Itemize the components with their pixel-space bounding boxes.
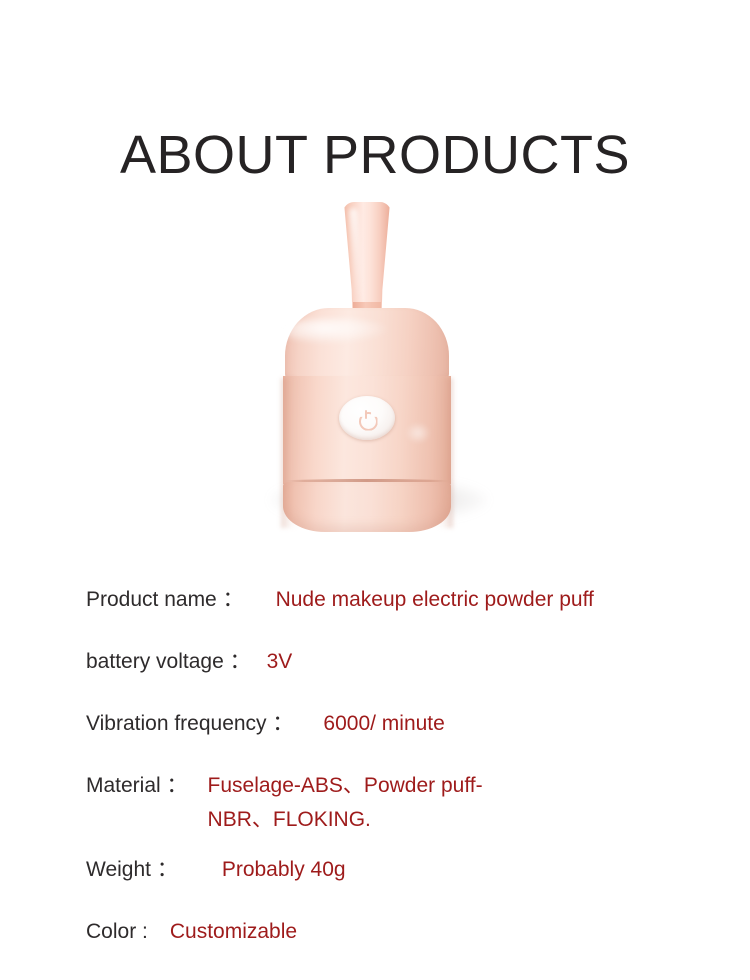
product-lower-body — [283, 482, 451, 532]
power-button[interactable] — [339, 396, 395, 440]
spec-value-battery-voltage: 3V — [251, 645, 293, 679]
spec-value-material-line-1: Fuselage-ABS、Powder puff- — [208, 774, 483, 797]
spec-value-material: Fuselage-ABS、Powder puff- NBR、FLOKING. — [188, 769, 483, 837]
spec-label-vibration-frequency: Vibration frequency ： — [86, 707, 293, 741]
spec-row-vibration-frequency: Vibration frequency ： 6000/ minute — [86, 707, 686, 741]
product-specification-list: Product name ： Nude makeup electric powd… — [86, 583, 686, 949]
spec-value-color: Customizable — [148, 915, 297, 949]
spec-row-material: Material ： Fuselage-ABS、Powder puff- NBR… — [86, 769, 686, 837]
spec-row-color: Color : Customizable — [86, 915, 686, 949]
product-image — [255, 190, 505, 550]
spec-label-product-name: Product name ： — [86, 583, 244, 617]
spec-value-product-name: Nude makeup electric powder puff — [244, 583, 594, 617]
power-icon — [359, 410, 376, 427]
spec-label-material: Material ： — [86, 769, 188, 803]
spec-row-product-name: Product name ： Nude makeup electric powd… — [86, 583, 686, 617]
lid-specular-highlight — [281, 318, 389, 344]
spec-label-color: Color : — [86, 915, 148, 949]
spec-value-weight: Probably 40g — [178, 853, 346, 887]
spec-row-weight: Weight ： Probably 40g — [86, 853, 686, 887]
spec-value-material-line-2: NBR、FLOKING. — [208, 803, 483, 837]
spec-row-battery-voltage: battery voltage ： 3V — [86, 645, 686, 679]
spec-label-battery-voltage: battery voltage ： — [86, 645, 251, 679]
spec-label-weight: Weight ： — [86, 853, 178, 887]
body-sheen-highlight — [405, 422, 431, 444]
page-title: ABOUT PRODUCTS — [0, 124, 750, 186]
spec-value-vibration-frequency: 6000/ minute — [293, 707, 444, 741]
